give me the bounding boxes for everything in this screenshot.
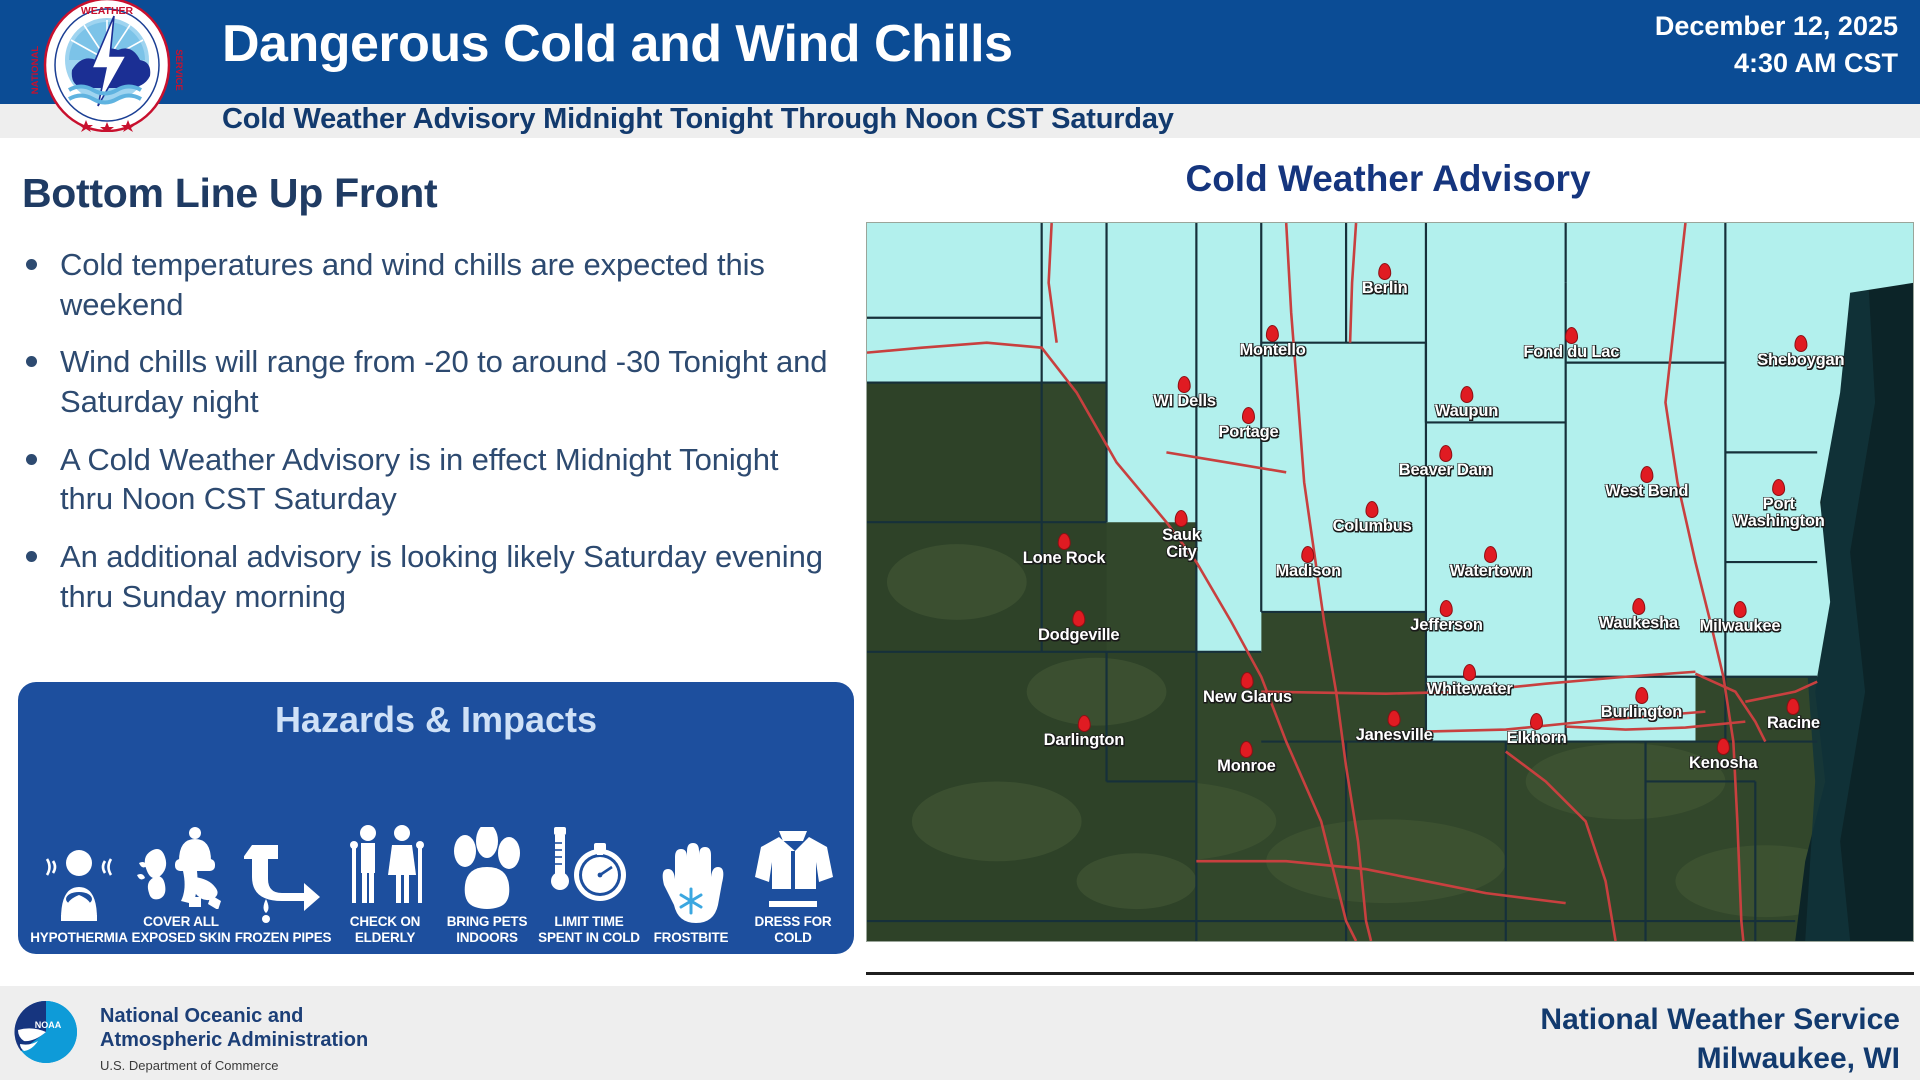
map-pin-icon [1640,466,1653,483]
city-label: Elkhorn [1507,730,1567,747]
city-label: Sheboygan [1757,352,1844,369]
issuance-date: December 12, 2025 [1655,8,1898,45]
city-marker: Portage [1218,407,1278,441]
city-label: Kenosha [1689,755,1757,772]
city-marker: Whitewater [1427,664,1513,698]
map-geometry [867,223,1913,941]
city-label: Waukesha [1599,615,1678,632]
advisory-map[interactable]: BerlinMontelloFond du LacSheboyganWaupun… [866,222,1914,942]
dripping-pipe-icon [244,839,322,925]
bullet-dot-icon [26,551,37,562]
city-label: Lone Rock [1023,550,1106,567]
city-label: Racine [1767,715,1820,732]
issuance-datetime: December 12, 2025 4:30 AM CST [1655,8,1898,81]
city-marker: Jefferson [1410,600,1482,634]
noaa-logo: NOAA [14,1000,78,1064]
city-label: Dodgeville [1038,627,1119,644]
bottom-line-up-front-heading: Bottom Line Up Front [22,170,437,217]
map-pin-icon [1077,715,1090,732]
noaa-line-1: National Oceanic and [100,1004,368,1028]
city-marker: Darlington [1044,715,1125,749]
city-marker: WI Dells [1153,376,1216,410]
city-marker: Beaver Dam [1399,445,1492,479]
svg-text:NOAA: NOAA [35,1020,62,1030]
map-pin-icon [1632,598,1645,615]
bullet-dot-icon [26,356,37,367]
map-pin-icon [1794,335,1807,352]
bullet-item: Cold temperatures and wind chills are ex… [22,245,832,324]
hazard-item: LIMIT TIME SPENT IN COLD [538,760,640,945]
city-marker: Watertown [1450,546,1532,580]
map-pin-icon [1378,263,1391,280]
nws-office-footer: National Weather Service Milwaukee, WI [1540,1000,1900,1078]
hazard-label: BRING PETS INDOORS [447,914,528,945]
map-pin-icon [1787,698,1800,715]
nws-office-name: National Weather Service [1540,1000,1900,1039]
issuance-time: 4:30 AM CST [1655,45,1898,82]
bullet-item: An additional advisory is looking likely… [22,537,832,616]
shivering-person-icon [41,839,117,925]
map-pin-icon [1072,610,1085,627]
map-pin-icon [1388,710,1401,727]
city-label: Jefferson [1410,617,1482,634]
hazard-item: CHECK ON ELDERLY [334,760,436,945]
city-marker: Madison [1275,546,1341,580]
hazard-item: FROSTBITE [640,760,742,945]
city-label: WI Dells [1153,393,1216,410]
city-marker: Sauk City [1162,510,1201,561]
bullet-text: An additional advisory is looking likely… [60,539,823,614]
paw-print-icon [447,823,527,909]
map-pin-icon [1565,327,1578,344]
hazard-label: LIMIT TIME SPENT IN COLD [538,914,640,945]
bullet-text: Wind chills will range from -20 to aroun… [60,344,827,419]
bullet-text: Cold temperatures and wind chills are ex… [60,247,765,322]
hazard-item: FROZEN PIPES [232,760,334,945]
city-marker: Kenosha [1689,738,1757,772]
map-pin-icon [1241,672,1254,689]
city-label: Whitewater [1427,681,1513,698]
map-pin-icon [1366,501,1379,518]
city-marker: Milwaukee [1700,601,1781,635]
noaa-wordmark: National Oceanic and Atmospheric Adminis… [100,1004,368,1073]
hazard-label: FROSTBITE [654,930,729,945]
city-marker: Elkhorn [1507,713,1567,747]
map-pin-icon [1484,546,1497,563]
map-pin-icon [1717,738,1730,755]
thermometer-stopwatch-icon [546,823,632,909]
city-label: Darlington [1044,732,1125,749]
map-pin-icon [1463,664,1476,681]
city-marker: Lone Rock [1023,533,1106,567]
page-title: Dangerous Cold and Wind Chills [222,14,1013,74]
hazard-label: COVER ALL EXPOSED SKIN [132,914,231,945]
hazard-icon-row: HYPOTHERMIACOVER ALL EXPOSED SKINFROZEN … [28,760,844,945]
bullet-item: Wind chills will range from -20 to aroun… [22,342,832,421]
city-marker: Berlin [1362,263,1408,297]
hazard-item: BRING PETS INDOORS [436,760,538,945]
city-label: Port Washington [1733,496,1825,530]
city-marker: Janesville [1356,710,1433,744]
hazard-item: DRESS FOR COLD [742,760,844,945]
city-label: Monroe [1217,758,1275,775]
hazard-label: DRESS FOR COLD [755,914,832,945]
city-label: Columbus [1333,518,1412,535]
bullet-item: A Cold Weather Advisory is in effect Mid… [22,440,832,519]
city-marker: Burlington [1601,687,1682,721]
bullet-text: A Cold Weather Advisory is in effect Mid… [60,442,778,517]
bullet-dot-icon [26,259,37,270]
hazards-panel-title: Hazards & Impacts [18,699,854,741]
map-pin-icon [1175,510,1188,527]
hazard-item: COVER ALL EXPOSED SKIN [130,760,232,945]
city-marker: Monroe [1217,741,1275,775]
hazard-label: HYPOTHERMIA [30,930,128,945]
map-title: Cold Weather Advisory [866,158,1910,200]
city-label: Burlington [1601,704,1682,721]
city-label: New Glarus [1203,689,1292,706]
nws-office-location: Milwaukee, WI [1540,1039,1900,1078]
city-marker: Racine [1767,698,1820,732]
weather-advisory-graphic: WEATHER NATIONAL SERVICE Dangerous Cold … [0,0,1920,1080]
map-pin-icon [1302,546,1315,563]
city-marker: Waupun [1435,386,1498,420]
map-pin-icon [1178,376,1191,393]
city-label: Milwaukee [1700,618,1781,635]
city-label: Portage [1218,424,1278,441]
svg-text:SERVICE: SERVICE [173,49,184,91]
bullet-list: Cold temperatures and wind chills are ex… [22,245,832,634]
hazard-label: FROZEN PIPES [235,930,332,945]
map-pin-icon [1266,325,1279,342]
hazard-label: CHECK ON ELDERLY [350,914,420,945]
city-marker: Port Washington [1733,479,1825,530]
advisory-subtitle: Cold Weather Advisory Midnight Tonight T… [222,103,1174,136]
city-marker: Montello [1239,325,1305,359]
noaa-department-line: U.S. Department of Commerce [100,1058,368,1073]
hazard-item: HYPOTHERMIA [28,760,130,945]
hand-snowflake-icon [652,839,730,925]
city-marker: Columbus [1333,501,1412,535]
city-label: Sauk City [1162,527,1201,561]
city-label: Montello [1239,342,1305,359]
map-pin-icon [1242,407,1255,424]
city-label: Beaver Dam [1399,462,1492,479]
city-marker: Waukesha [1599,598,1678,632]
city-marker: Sheboygan [1757,335,1844,369]
footer-divider [866,972,1914,975]
svg-text:WEATHER: WEATHER [81,5,134,17]
map-pin-icon [1530,713,1543,730]
national-weather-service-logo: WEATHER NATIONAL SERVICE [14,0,200,132]
city-label: Berlin [1362,280,1408,297]
city-marker: New Glarus [1203,672,1292,706]
city-label: Janesville [1356,727,1433,744]
map-pin-icon [1439,445,1452,462]
city-label: Watertown [1450,563,1532,580]
winter-jacket-icon [751,823,835,909]
map-pin-icon [1058,533,1071,550]
hazards-impacts-panel: Hazards & Impacts HYPOTHERMIACOVER ALL E… [18,682,854,954]
bullet-dot-icon [26,454,37,465]
city-marker: West Bend [1605,466,1688,500]
map-pin-icon [1240,741,1253,758]
map-pin-icon [1440,600,1453,617]
hat-scarf-gloves-icon [135,823,227,909]
map-pin-icon [1635,687,1648,704]
map-pin-icon [1772,479,1785,496]
map-pin-icon [1733,601,1746,618]
city-marker: Dodgeville [1038,610,1119,644]
svg-text:NATIONAL: NATIONAL [30,46,41,95]
elderly-couple-icon [342,823,428,909]
city-marker: Fond du Lac [1523,327,1619,361]
city-label: Madison [1275,563,1341,580]
noaa-line-2: Atmospheric Administration [100,1028,368,1052]
city-label: Fond du Lac [1523,344,1619,361]
city-label: West Bend [1605,483,1688,500]
map-pin-icon [1460,386,1473,403]
city-label: Waupun [1435,403,1498,420]
